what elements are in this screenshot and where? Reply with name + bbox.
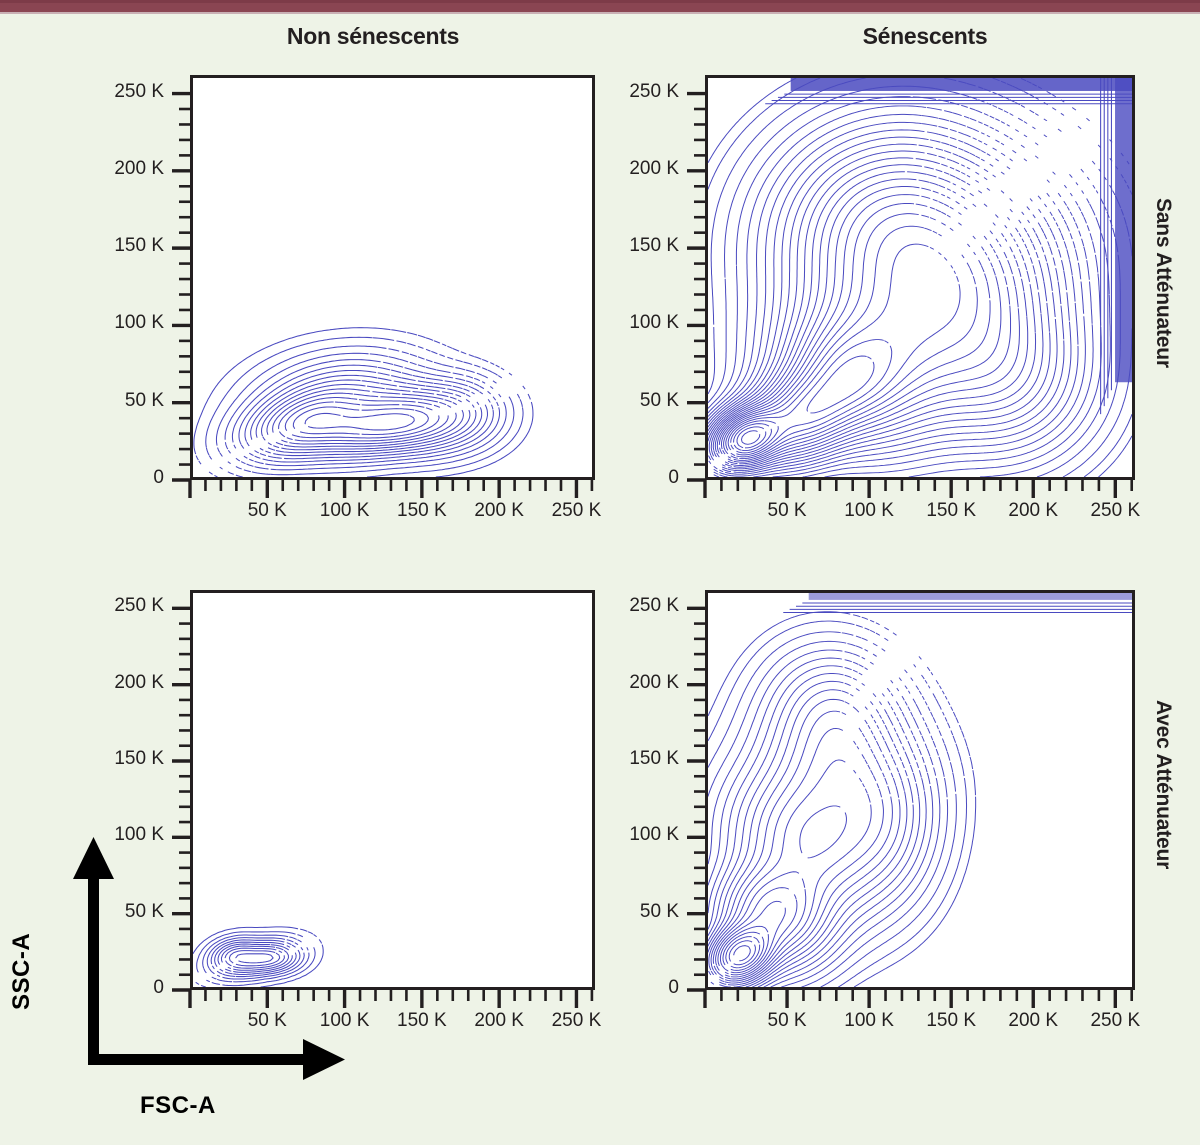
box-tr-x-tick-label: 200 K (988, 500, 1078, 522)
box-tr-y-axis-ticks (683, 75, 705, 480)
plot-area-top-left[interactable] (190, 75, 595, 480)
box-tl-y-tick-label: 250 K (72, 81, 164, 103)
box-tr-y-tick-label: 50 K (587, 390, 679, 412)
box-bl-y-tick-label: 0 (72, 977, 164, 999)
box-br-y-tick-label: 250 K (587, 595, 679, 617)
column-title-non-senescent: Non sénescents (213, 23, 533, 50)
box-bl-y-tick-label: 200 K (72, 672, 164, 694)
box-bl-y-tick-label: 100 K (72, 824, 164, 846)
box-tl-y-tick-label: 0 (72, 467, 164, 489)
box-br-y-axis-ticks (683, 590, 705, 990)
box-bl-x-tick-label: 250 K (531, 1010, 621, 1032)
box-tl-x-axis-ticks (190, 480, 595, 502)
contour-plot-top-left (193, 78, 592, 477)
box-bl-y-tick-label: 150 K (72, 748, 164, 770)
box-bl-y-tick-label: 250 K (72, 595, 164, 617)
box-tr-y-tick-label: 100 K (587, 312, 679, 334)
box-bl-y-axis-ticks (168, 590, 190, 990)
plot-area-bottom-right[interactable] (705, 590, 1135, 990)
box-bl-y-tick-label: 50 K (72, 901, 164, 923)
box-tr-y-tick-label: 0 (587, 467, 679, 489)
box-tr-y-tick-label: 200 K (587, 158, 679, 180)
box-br-x-tick-label: 200 K (988, 1010, 1078, 1032)
box-br-x-tick-label: 100 K (824, 1010, 914, 1032)
box-tr-y-tick-label: 250 K (587, 81, 679, 103)
box-tr-x-tick-label: 150 K (906, 500, 996, 522)
top-accent-bar (0, 0, 1200, 14)
box-br-y-tick-label: 0 (587, 977, 679, 999)
box-tl-y-axis-ticks (168, 75, 190, 480)
box-br-y-tick-label: 200 K (587, 672, 679, 694)
box-tr-x-tick-label: 250 K (1070, 500, 1160, 522)
box-tr-x-tick-label: 100 K (824, 500, 914, 522)
global-x-axis-label: FSC-A (140, 1092, 216, 1120)
box-tl-y-tick-label: 50 K (72, 390, 164, 412)
global-axis-arrows (60, 835, 350, 1105)
box-br-y-tick-label: 150 K (587, 748, 679, 770)
global-y-axis-label: SSC-A (8, 933, 36, 1010)
contour-plot-bottom-right (708, 593, 1132, 987)
column-title-senescent: Sénescents (805, 23, 1045, 50)
box-tl-y-tick-label: 200 K (72, 158, 164, 180)
plot-area-top-right[interactable] (705, 75, 1135, 480)
box-bl-x-axis-ticks (190, 990, 595, 1012)
box-br-x-tick-label: 50 K (742, 1010, 832, 1032)
box-br-y-tick-label: 100 K (587, 824, 679, 846)
box-tl-y-tick-label: 150 K (72, 235, 164, 257)
contour-plot-top-right (708, 78, 1132, 477)
box-tr-x-axis-ticks (705, 480, 1135, 502)
box-tl-x-tick-label: 250 K (531, 500, 621, 522)
box-br-x-tick-label: 250 K (1070, 1010, 1160, 1032)
row-label-sans-attenuateur: Sans Atténuateur (1151, 198, 1175, 368)
box-br-x-tick-label: 150 K (906, 1010, 996, 1032)
box-br-y-tick-label: 50 K (587, 901, 679, 923)
row-label-avec-attenuateur: Avec Atténuateur (1151, 700, 1175, 869)
box-br-x-axis-ticks (705, 990, 1135, 1012)
box-tr-y-tick-label: 150 K (587, 235, 679, 257)
box-tl-y-tick-label: 100 K (72, 312, 164, 334)
box-tr-x-tick-label: 50 K (742, 500, 832, 522)
